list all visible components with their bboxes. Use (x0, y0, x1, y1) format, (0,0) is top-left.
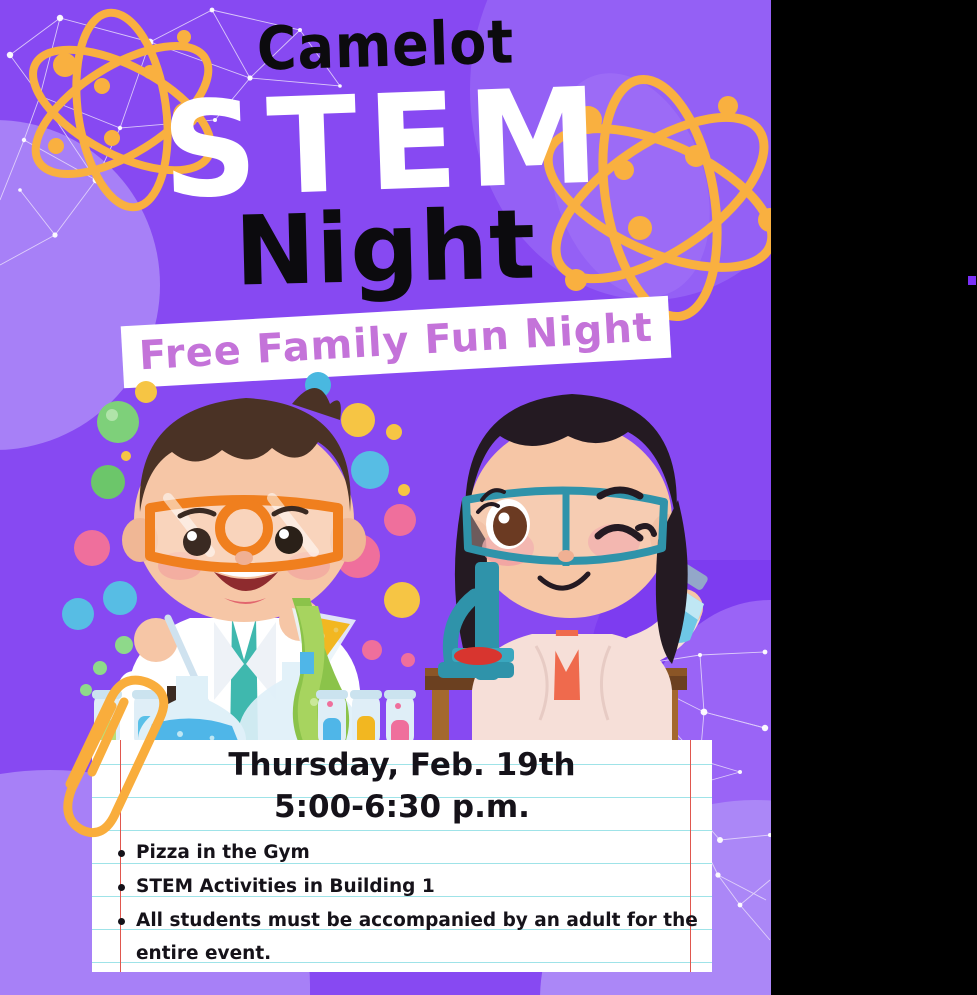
stray-pixel-artifact (968, 276, 976, 285)
screenshot-stage: Camelot STEM Night Free Family Fun Night (0, 0, 977, 995)
stem-night-flyer: Camelot STEM Night Free Family Fun Night (0, 0, 771, 995)
paperclip-icon (0, 0, 771, 995)
